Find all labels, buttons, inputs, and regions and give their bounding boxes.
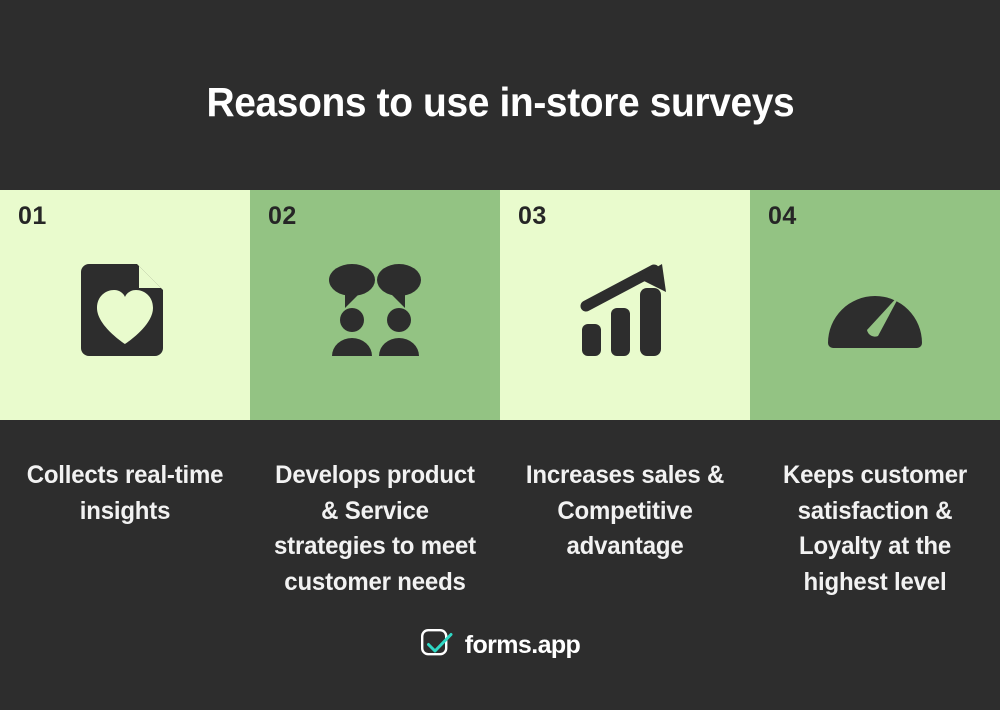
people-speech-bubbles-icon <box>325 260 425 360</box>
caption-cell-02: Develops product & Service strategies to… <box>250 458 500 600</box>
footer: forms.app <box>0 600 1000 710</box>
checkmark-in-square-icon <box>420 628 454 662</box>
caption-cell-01: Collects real-time insights <box>0 458 250 600</box>
caption-text-01: Collects real-time insights <box>18 458 231 529</box>
document-heart-icon <box>75 260 175 360</box>
caption-text-03: Increases sales & Competitive advantage <box>518 458 731 565</box>
caption-cell-04: Keeps customer satisfaction & Loyalty at… <box>750 458 1000 600</box>
panel-number-02: 02 <box>268 202 297 231</box>
icon-band: 01 02 <box>0 190 1000 420</box>
caption-text-04: Keeps customer satisfaction & Loyalty at… <box>768 458 981 600</box>
infographic-poster: Reasons to use in-store surveys 01 02 <box>0 0 1000 705</box>
caption-row: Collects real-time insights Develops pro… <box>0 420 1000 600</box>
brand-logo: forms.app <box>420 628 580 662</box>
header: Reasons to use in-store surveys <box>0 0 1000 190</box>
gauge-speedometer-icon <box>825 260 925 360</box>
panel-03: 03 <box>500 190 750 420</box>
page-title: Reasons to use in-store surveys <box>206 65 794 126</box>
brand-wordmark: forms.app <box>465 631 580 660</box>
panel-number-03: 03 <box>518 202 547 231</box>
caption-text-02: Develops product & Service strategies to… <box>268 458 481 600</box>
panel-number-01: 01 <box>18 202 47 231</box>
bar-chart-arrow-up-icon <box>575 260 675 360</box>
panel-02: 02 <box>250 190 500 420</box>
panel-number-04: 04 <box>768 202 797 231</box>
caption-cell-03: Increases sales & Competitive advantage <box>500 458 750 600</box>
panel-01: 01 <box>0 190 250 420</box>
panel-04: 04 <box>750 190 1000 420</box>
